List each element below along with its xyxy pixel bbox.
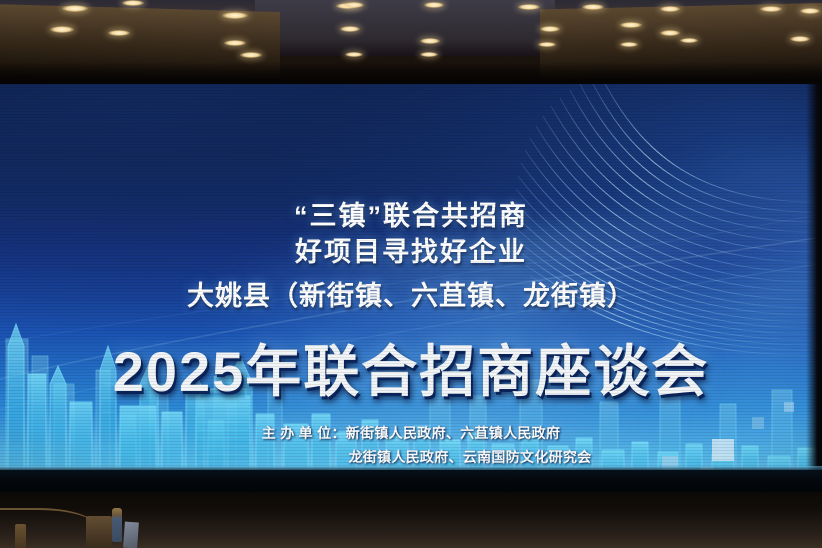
ceiling xyxy=(0,0,822,84)
paper-sheet xyxy=(123,522,139,548)
downlight xyxy=(424,2,444,8)
downlight xyxy=(582,4,604,10)
downlight xyxy=(224,40,246,46)
downlight xyxy=(800,8,820,14)
downlight xyxy=(345,52,363,57)
downlight xyxy=(620,42,638,47)
host-organizer-value-1: 新街镇人民政府、六苴镇人民政府 xyxy=(346,425,561,441)
downlight xyxy=(122,0,144,6)
downlight xyxy=(50,26,74,33)
downlight xyxy=(540,26,560,32)
towns-line: 大姚县（新街镇、六苴镇、龙街镇） xyxy=(0,274,822,313)
podium-edge xyxy=(86,516,112,548)
water-bottle-secondary xyxy=(15,524,26,548)
downlight xyxy=(538,42,556,47)
right-wall-edge xyxy=(806,84,822,488)
host-organizer-line-2: 龙街镇人民政府、云南国防文化研究会 xyxy=(0,447,822,467)
downlight xyxy=(518,4,540,10)
downlight xyxy=(420,38,440,44)
downlight xyxy=(790,36,810,42)
main-title: 2025年联合招商座谈会 xyxy=(0,327,822,408)
downlight xyxy=(680,38,698,43)
conference-hall-photo: “三镇”联合共招商 好项目寻找好企业 大姚县（新街镇、六苴镇、龙街镇） 2025… xyxy=(0,0,822,548)
slogan-line-1: “三镇”联合共招商 xyxy=(0,194,822,233)
downlight xyxy=(108,30,130,36)
downlight xyxy=(660,6,680,12)
downlight xyxy=(62,5,88,12)
downlight xyxy=(344,2,364,8)
downlight xyxy=(222,12,248,19)
slogan-line-2: 好项目寻找好企业 xyxy=(0,230,822,269)
downlight xyxy=(240,52,262,58)
water-bottle xyxy=(112,508,122,542)
downlight xyxy=(660,30,680,36)
downlight xyxy=(760,6,782,12)
downlight xyxy=(620,22,642,28)
downlight xyxy=(340,26,360,32)
downlight xyxy=(420,52,438,57)
led-screen: “三镇”联合共招商 好项目寻找好企业 大姚县（新街镇、六苴镇、龙街镇） 2025… xyxy=(0,84,822,488)
ceiling-center-panel xyxy=(255,0,555,56)
host-organizer-line-1: 主 办 单 位：新街镇人民政府、六苴镇人民政府 xyxy=(0,423,822,443)
ceiling-shadow xyxy=(0,62,822,84)
host-organizer-value-2: 龙街镇人民政府、云南国防文化研究会 xyxy=(348,449,591,465)
host-organizer-label: 主 办 单 位： xyxy=(262,425,346,441)
